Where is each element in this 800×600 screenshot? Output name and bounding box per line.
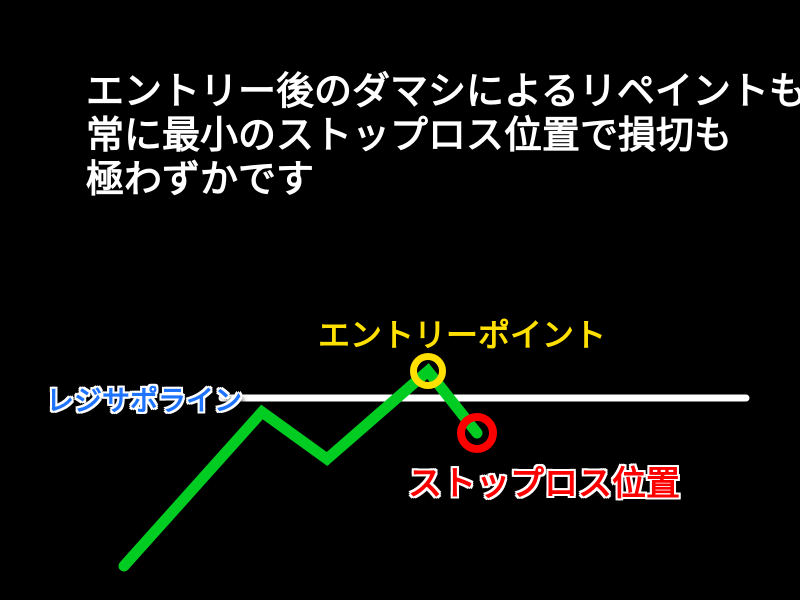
entry-point-label: エントリーポイント (318, 310, 606, 356)
stop-loss-label: ストップロス位置 (408, 456, 680, 505)
slide-canvas: エントリー後のダマシによるリペイントも 常に最小のストップロス位置で損切も 極わ… (0, 0, 800, 600)
price-chart (0, 0, 800, 600)
resistance-line-label: レジサポライン (46, 379, 242, 419)
